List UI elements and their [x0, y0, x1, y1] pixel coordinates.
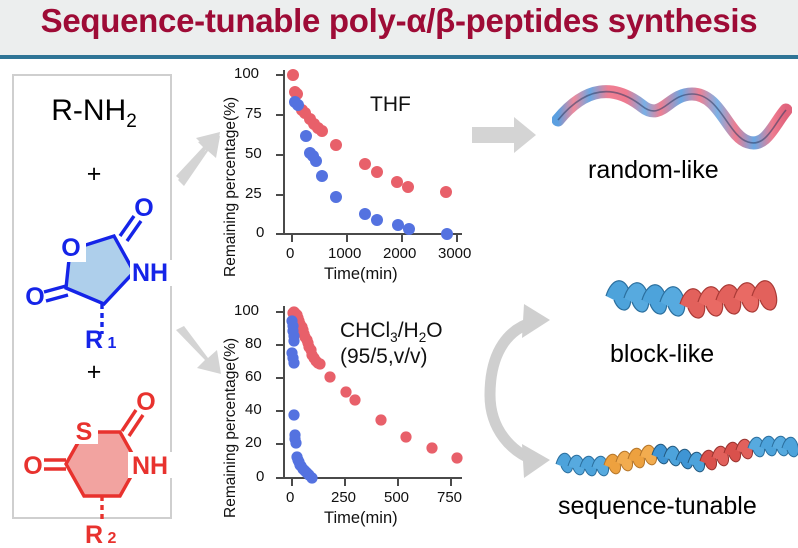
nca-carbonyl-bond-c [44, 286, 66, 292]
plus-sign-1: + [14, 160, 174, 189]
structure-label-tunable: sequence-tunable [558, 492, 757, 521]
title-divider [0, 55, 798, 59]
initiator-label: R-NH [51, 94, 126, 127]
structure-tunable-helix [552, 428, 798, 494]
tunable-helix-blue-1 [556, 453, 609, 476]
chart-thf-xlabel: Time(min) [324, 265, 398, 284]
chart-thf-ytick-0: 0 [256, 224, 264, 241]
nta-atom-o-top: O [136, 388, 155, 416]
chart-chcl3-ytick-20: 20 [245, 434, 262, 451]
page-title: Sequence-tunable poly-α/β-peptides synth… [0, 2, 798, 40]
nta-substituent: R [85, 521, 103, 548]
nca-atom-o-top: O [134, 194, 153, 222]
nca-atom-o-left: O [25, 283, 44, 311]
nca-substituent: R [85, 326, 103, 348]
chart-chcl3-ytick-0: 0 [256, 468, 264, 485]
chart-chcl3: Remaining percentage(%) CHCl3/H2O (95/5,… [212, 296, 470, 536]
chart-chcl3-series-red [287, 306, 462, 463]
graphical-abstract: Sequence-tunable poly-α/β-peptides synth… [0, 0, 798, 539]
block-helix-red-segment [680, 281, 777, 318]
chart-chcl3-ytick-100: 100 [234, 302, 259, 319]
plus-sign-2: + [14, 358, 174, 387]
chart-chcl3-ytick-40: 40 [245, 401, 262, 418]
chart-thf-xtick-2000: 2000 [383, 245, 416, 262]
nca-atom-o-ring: O [61, 234, 80, 262]
nca-substituent-subscript: 1 [108, 335, 117, 348]
chart-chcl3-xtick-250: 250 [331, 489, 356, 506]
initiator-subscript: 2 [126, 111, 137, 132]
chart-thf-yticks [276, 75, 284, 234]
chart-chcl3-yticks [276, 312, 284, 478]
nca-atom-nh: NH [132, 259, 168, 287]
tunable-helix-blue-2 [652, 444, 705, 472]
nta-structure: S O O NH R 2 [20, 388, 172, 548]
random-ribbon-path [558, 92, 786, 143]
nca-carbonyl-bond-d [46, 295, 68, 301]
structure-label-random: random-like [588, 156, 719, 185]
chart-thf: Remaining percentage(%) THF [212, 62, 470, 287]
nta-atom-s: S [76, 418, 93, 446]
tunable-helix-blue-3 [748, 436, 798, 457]
structure-label-block: block-like [610, 340, 714, 369]
arrow-right-icon [470, 115, 538, 155]
tunable-helix-red [700, 439, 753, 470]
structure-block-helix [600, 270, 796, 340]
chart-thf-xticks [292, 234, 457, 242]
structure-random-ribbon [552, 76, 792, 156]
nca-structure: O O O NH R 1 [22, 188, 172, 348]
chart-thf-xtick-3000: 3000 [438, 245, 471, 262]
chart-thf-ytick-75: 75 [245, 105, 262, 122]
chart-thf-ytick-25: 25 [245, 185, 262, 202]
chart-chcl3-ytick-80: 80 [245, 335, 262, 352]
chart-chcl3-ytick-60: 60 [245, 368, 262, 385]
chart-thf-xtick-0: 0 [286, 245, 294, 262]
curved-arrow-down-icon [490, 395, 550, 478]
nta-atom-o-left: O [23, 452, 42, 480]
tunable-helix-orange [604, 445, 657, 474]
chart-thf-ytick-100: 100 [234, 65, 259, 82]
chart-chcl3-xtick-500: 500 [384, 489, 409, 506]
nta-atom-nh: NH [132, 452, 168, 480]
initiator-formula: R-NH2 [14, 94, 174, 133]
chart-chcl3-xlabel: Time(min) [324, 509, 398, 528]
curved-arrow-up-icon [490, 304, 550, 395]
chart-chcl3-xtick-750: 750 [437, 489, 462, 506]
chart-thf-xtick-1000: 1000 [328, 245, 361, 262]
chart-thf-ytick-50: 50 [245, 145, 262, 162]
chart-thf-series-red [287, 69, 452, 198]
block-helix-blue-segment [606, 281, 685, 316]
chart-chcl3-xtick-0: 0 [286, 489, 294, 506]
monomer-panel: R-NH2 + O O O NH R 1 + [12, 74, 172, 519]
